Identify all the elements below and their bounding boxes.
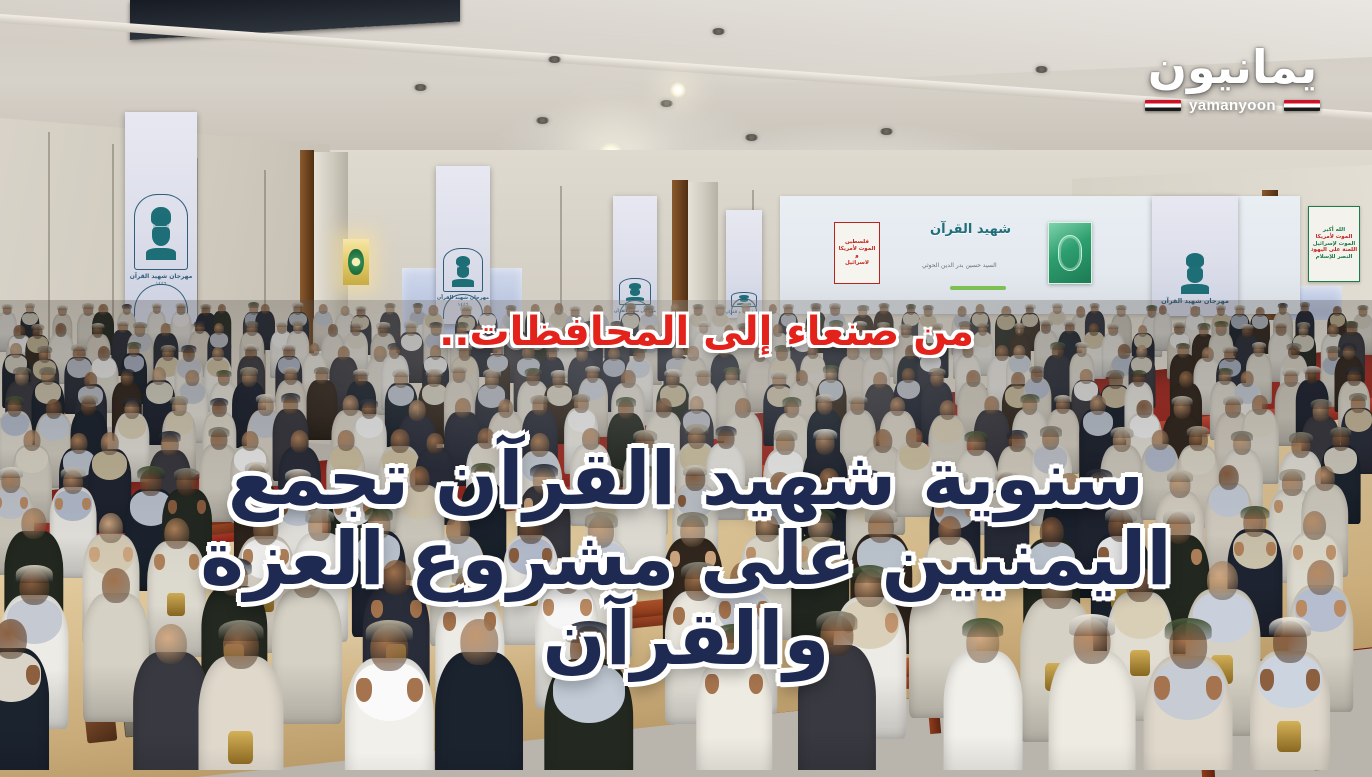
news-photo-card: شهيد القرآن السيد حسين بدر الدين الحوثي … [0, 0, 1372, 777]
crowd-person-jambiya [1277, 721, 1301, 752]
red-sign-line: لاسرائيل [845, 260, 869, 267]
crowd-person-head [984, 396, 999, 415]
crowd-person-head [975, 304, 984, 315]
martyr-banner: مهرجان شهيد القرآن ١٤٤٦ [1152, 196, 1238, 316]
crowd-person-headwear [1014, 323, 1026, 329]
crowd-person-headwear [57, 305, 67, 310]
crowd-person-headwear [782, 397, 801, 406]
crowd-person-head [10, 343, 22, 358]
crowd-person-headwear [929, 368, 946, 376]
crowd-person-headwear [360, 399, 378, 408]
crowd-person-headwear [244, 344, 259, 351]
banner-arch [1163, 251, 1227, 294]
crowd-person-headwear [292, 321, 304, 327]
crowd-person-headwear [426, 369, 443, 377]
crowd-person-head [455, 398, 471, 418]
logo-latin-wordmark: yamanyoon [1189, 97, 1276, 114]
crowd-person-headwear [1116, 305, 1127, 310]
crowd-person-headwear [977, 323, 989, 329]
crowd-person-headwear [1187, 426, 1210, 437]
crowd-person-headwear [1216, 305, 1226, 310]
crowd-person-head [1190, 306, 1200, 318]
crowd-person-headwear [771, 371, 788, 379]
crowd-person-headwear [1020, 394, 1039, 403]
red-sign-line: و [855, 253, 858, 260]
crowd-person-headwear [79, 395, 98, 404]
crowd-person-headwear [1173, 322, 1186, 328]
crowd-person-head [214, 323, 224, 335]
crowd-person-headwear [1217, 368, 1233, 376]
crowd-person-headwear [133, 322, 147, 329]
logo-latin-row: yamanyoon [1145, 97, 1320, 114]
crowd-person-headwear [170, 396, 188, 405]
slogan-sign: الله أكبر الموت لأمريكا الموت لإسرائيل ا… [1308, 206, 1360, 282]
crowd-person-head [1002, 306, 1011, 318]
crowd-person-headwear [387, 343, 402, 350]
main-headline: سنوية شهيد القرآن تجمع اليمنيين على مشرو… [0, 440, 1372, 680]
crowd-person-headwear [216, 370, 231, 377]
crowd-person-headwear [200, 304, 211, 309]
backdrop-green-bar [950, 286, 1006, 290]
crowd-person-head [1138, 325, 1148, 337]
crowd-person-headwear [823, 365, 839, 373]
crowd-person-headwear [1330, 427, 1351, 437]
crowd-person-headwear [350, 322, 363, 328]
crowd-person-headwear [121, 304, 131, 309]
banner-arch [443, 248, 483, 292]
crowd-person-headwear [1223, 346, 1238, 353]
crowd-person-headwear [1029, 366, 1044, 373]
crowd-person-headwear [1297, 322, 1311, 328]
backdrop-title: شهيد القرآن [930, 222, 1011, 237]
crowd-person-headwear [1025, 304, 1036, 309]
crowd-person-hand [1154, 676, 1170, 700]
ceiling-spotlight [670, 82, 686, 98]
crowd-person-headwear [91, 323, 104, 329]
crowd-person-headwear [741, 303, 751, 308]
crowd-person-headwear [1063, 320, 1076, 326]
crowd-person-headwear [13, 367, 31, 376]
crowd-person-headwear [283, 367, 299, 375]
crowd-person-headwear [1341, 343, 1356, 350]
crowd-person-head [98, 346, 110, 361]
crowd-person-head [735, 398, 751, 418]
quran-emblem [1048, 222, 1092, 284]
crowd-person-head [621, 370, 635, 388]
crowd-person-headwear [724, 367, 741, 375]
crowd-person-headwear [1107, 370, 1125, 378]
crowd-person-headwear [39, 367, 56, 375]
crowd-person-headwear [1054, 395, 1072, 403]
crowd-person-head [1241, 371, 1254, 387]
crowd-person-headwear [1274, 321, 1288, 328]
crowd-person-headwear [176, 303, 187, 308]
crowd-person-head [160, 323, 171, 336]
crowd-person-headwear [393, 369, 410, 377]
crowd-person-headwear [5, 396, 24, 405]
ceiling-downlight [548, 56, 561, 63]
crowd-person-hand [1206, 676, 1222, 700]
crowd-person-headwear [123, 398, 142, 407]
crowd-person-head [152, 367, 166, 384]
crowd-person-headwear [209, 427, 230, 437]
crowd-person-headwear [211, 398, 229, 406]
crowd-person-headwear [530, 395, 549, 404]
ceiling-downlight [1035, 66, 1048, 73]
crowd-person-headwear [31, 324, 44, 330]
crowd-person-hand [407, 678, 423, 702]
banner-caption: مهرجان شهيد القرآن [130, 273, 193, 280]
yemen-flag-icon [1284, 100, 1320, 111]
crowd-person-head [902, 368, 914, 383]
crowd-person-headwear [686, 424, 709, 435]
crowd-person-headwear [1052, 303, 1062, 308]
backdrop-subtitle: السيد حسين بدر الدين الحوثي [922, 262, 997, 269]
crowd-person-headwear [1040, 426, 1062, 437]
crowd-person-headwear [585, 366, 601, 374]
ceiling-downlight [660, 100, 673, 107]
crowd-person-head [1136, 345, 1147, 359]
crowd-person-head [337, 346, 350, 361]
crowd-person-hand [356, 678, 372, 702]
crowd-person-headwear [193, 321, 206, 327]
red-sign-line: الموت لأمريكا [839, 246, 876, 253]
crowd-person-headwear [849, 395, 868, 404]
crowd-person-headwear [405, 321, 419, 328]
crowd-person-headwear [810, 303, 821, 308]
crowd-person-headwear [25, 303, 35, 308]
crowd-person-head [55, 323, 66, 337]
ceiling-downlight [536, 117, 549, 124]
martyr-portrait-icon [145, 206, 177, 259]
wall-lamp-emblem [343, 239, 369, 285]
crowd-person-head [84, 372, 98, 389]
crowd-person-headwear [1349, 393, 1367, 402]
martyr-banner: مهرجان شهيد القرآن ١٤٤٦ [125, 112, 197, 324]
crowd-person-headwear [1300, 302, 1310, 307]
crowd-person-head [1080, 369, 1093, 384]
crowd-person-head [319, 304, 328, 315]
crowd-person-headwear [451, 366, 467, 374]
crowd-person-headwear [1304, 366, 1321, 374]
crowd-person-headwear [1345, 321, 1359, 328]
crowd-person-headwear [1040, 320, 1053, 326]
crowd-person-headwear [119, 369, 135, 377]
crowd-person-headwear [1171, 396, 1192, 406]
ceiling-downlight [745, 134, 758, 141]
crowd-person-headwear [1241, 324, 1254, 330]
martyr-portrait-icon [1180, 253, 1211, 293]
crowd-person-head [655, 398, 671, 418]
crowd-person-headwear [1131, 370, 1146, 377]
crowd-person-headwear [37, 346, 53, 353]
ceiling-downlight [880, 128, 893, 135]
crowd-person-headwear [1107, 323, 1119, 329]
crowd-person-headwear [1234, 305, 1245, 310]
backdrop-red-sign: فلسطين الموت لأمريكا و لاسرائيل [834, 222, 880, 284]
crowd-person-headwear [292, 302, 304, 308]
crowd-person-headwear [1311, 399, 1332, 409]
outlet-logo: يمانيون yamanyoon [1145, 44, 1320, 114]
crowd-person-head [14, 325, 25, 339]
crowd-person-headwear [377, 322, 390, 328]
crowd-person-head [328, 324, 338, 336]
headline-line-2: اليمنيين على مشروع العزة [0, 520, 1372, 600]
crowd-person-head [890, 397, 906, 417]
crowd-person-headwear [161, 345, 176, 352]
crowd-person-headwear [1215, 321, 1228, 327]
crowd-person-headwear [355, 306, 366, 311]
slogan-line: الموت لإسرائيل [1313, 241, 1356, 248]
crowd-person-headwear [483, 369, 501, 378]
martyr-portrait-icon [451, 255, 475, 285]
crowd-person-headwear [1346, 367, 1363, 375]
crowd-person-head [1137, 400, 1152, 419]
crowd-person-jambiya [228, 731, 254, 764]
headline-line-3: والقرآن [0, 600, 1372, 680]
crowd-person-head [409, 400, 426, 421]
slogan-line: الله أكبر [1323, 227, 1345, 234]
crowd-person-head [967, 370, 980, 387]
crowd-person-headwear [240, 367, 258, 376]
crowd-person-head [873, 372, 887, 389]
crowd-person-head [689, 396, 704, 414]
crowd-person-headwear [314, 367, 330, 375]
martyr-portrait-icon [626, 283, 645, 301]
crowd-person-headwear [664, 369, 682, 377]
slogan-line: اللعنة على اليهود [1311, 247, 1357, 254]
slogan-line: الموت لأمريكا [1316, 234, 1353, 241]
crowd-person-headwear [551, 370, 568, 378]
crowd-person-head [1090, 395, 1106, 415]
crowd-person-headwear [716, 426, 737, 436]
crowd-person-head [212, 347, 224, 362]
crowd-person-headwear [245, 321, 258, 327]
headline-line-1: سنوية شهيد القرآن تجمع [0, 440, 1372, 520]
crowd-person-headwear [385, 303, 396, 308]
crowd-person-headwear [1176, 343, 1190, 350]
crowd-person-headwear [1050, 342, 1065, 349]
crowd-person-headwear [1357, 305, 1368, 310]
crowd-person-headwear [696, 370, 711, 377]
slogan-line: النصر للإسلام [1316, 254, 1353, 261]
yemen-flag-icon [1145, 100, 1181, 111]
kicker-headline: من صنعاء إلى المحافظات.. [439, 312, 974, 352]
crowd-person-headwear [127, 342, 141, 349]
crowd-person-head [795, 370, 807, 385]
logo-arabic-wordmark: يمانيون [1145, 44, 1320, 90]
crowd-person-head [498, 399, 514, 418]
crowd-person-headwear [71, 344, 87, 351]
crowd-person-headwear [525, 368, 542, 376]
crowd-person-headwear [816, 394, 835, 403]
crowd-person-head [1256, 307, 1265, 318]
crowd-person-head [309, 343, 320, 356]
crowd-person-head [1014, 345, 1025, 359]
ceiling-downlight [414, 84, 427, 91]
crowd-person-headwear [1089, 303, 1100, 308]
crowd-person-headwear [1277, 303, 1288, 308]
banner-arch [134, 194, 187, 269]
crowd-person-headwear [282, 344, 296, 351]
crowd-person-headwear [878, 303, 889, 308]
ceiling-downlight [712, 28, 725, 35]
crowd-person-headwear [572, 394, 590, 403]
crowd-person-head [1328, 324, 1338, 337]
crowd-person-head [261, 304, 270, 314]
crowd-person-head [1089, 323, 1099, 336]
crowd-person-headwear [151, 303, 161, 308]
crowd-person-head [99, 304, 108, 316]
crowd-person-headwear [353, 369, 369, 377]
crowd-person-head [341, 306, 350, 317]
crowd-person-head [1252, 395, 1268, 415]
crowd-person-head [218, 304, 226, 314]
crowd-person-headwear [906, 304, 916, 309]
crowd-person-headwear [1252, 342, 1266, 349]
crowd-person-headwear [1287, 343, 1302, 350]
crowd-person-headwear [181, 345, 196, 352]
crowd-person-headwear [281, 393, 301, 402]
crowd-person-head [46, 399, 62, 419]
red-sign-line: فلسطين [845, 239, 869, 246]
crowd-person-head [939, 400, 956, 421]
crowd-person-head [1179, 371, 1193, 388]
crowd-person-headwear [1223, 396, 1243, 405]
crowd-person-headwear [1075, 342, 1088, 348]
crowd-person-headwear [2, 304, 13, 309]
crowd-person-headwear [616, 397, 636, 407]
